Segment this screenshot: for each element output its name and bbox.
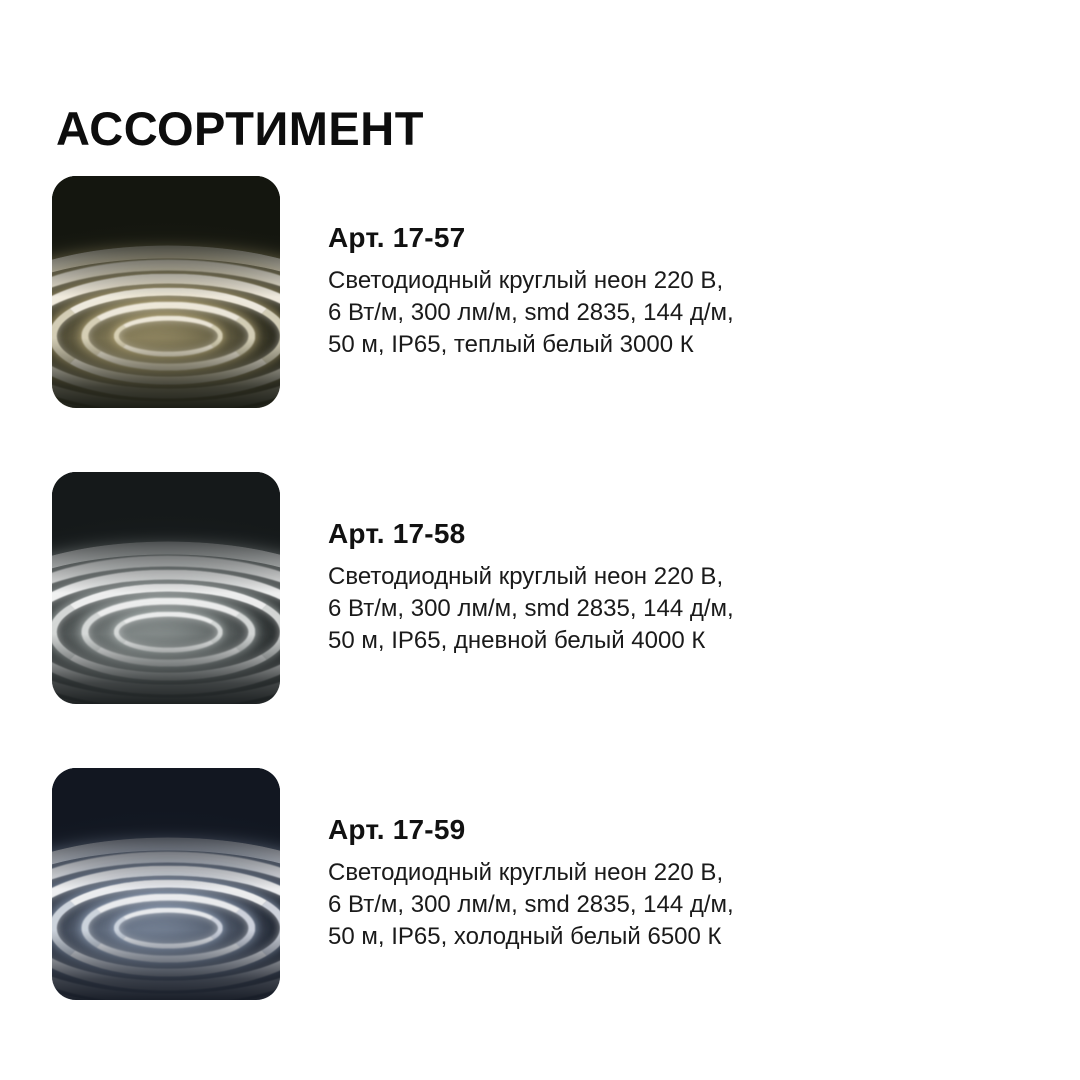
product-article: Арт. 17-57	[328, 223, 968, 254]
product-row: Арт. 17-59Светодиодный круглый неон 220 …	[0, 768, 1080, 1000]
product-image-led-neon-coil-cool-white[interactable]	[52, 768, 280, 1000]
product-description-line: 6 Вт/м, 300 лм/м, smd 2835, 144 д/м,	[328, 593, 968, 625]
product-row: Арт. 17-58Светодиодный круглый неон 220 …	[0, 472, 1080, 704]
neon-coil-illustration	[52, 176, 280, 408]
product-info: Арт. 17-59Светодиодный круглый неон 220 …	[328, 768, 968, 1000]
top-shade	[52, 472, 280, 593]
neon-coil-illustration	[52, 768, 280, 1000]
bottom-shade	[52, 930, 280, 1000]
product-description-line: 6 Вт/м, 300 лм/м, smd 2835, 144 д/м,	[328, 297, 968, 329]
product-image-led-neon-coil-neutral-white[interactable]	[52, 472, 280, 704]
product-image-led-neon-coil-warm-white[interactable]	[52, 176, 280, 408]
product-row: Арт. 17-57Светодиодный круглый неон 220 …	[0, 176, 1080, 408]
product-description-line: 50 м, IP65, теплый белый 3000 К	[328, 329, 968, 361]
product-list: Арт. 17-57Светодиодный круглый неон 220 …	[0, 176, 1080, 1064]
product-description-line: 50 м, IP65, дневной белый 4000 К	[328, 625, 968, 657]
product-description: Светодиодный круглый неон 220 В,6 Вт/м, …	[328, 857, 968, 953]
catalog-page: АССОРТИМЕНТ Арт. 17-57Светодиодный кругл…	[0, 0, 1080, 1080]
neon-coil-illustration	[52, 472, 280, 704]
top-shade	[52, 176, 280, 297]
bottom-shade	[52, 338, 280, 408]
product-description-line: Светодиодный круглый неон 220 В,	[328, 857, 968, 889]
product-info: Арт. 17-57Светодиодный круглый неон 220 …	[328, 176, 968, 408]
bottom-shade	[52, 634, 280, 704]
product-article: Арт. 17-58	[328, 519, 968, 550]
product-description-line: 6 Вт/м, 300 лм/м, smd 2835, 144 д/м,	[328, 889, 968, 921]
product-description-line: Светодиодный круглый неон 220 В,	[328, 561, 968, 593]
product-description-line: 50 м, IP65, холодный белый 6500 К	[328, 921, 968, 953]
product-info: Арт. 17-58Светодиодный круглый неон 220 …	[328, 472, 968, 704]
product-description: Светодиодный круглый неон 220 В,6 Вт/м, …	[328, 265, 968, 361]
product-description-line: Светодиодный круглый неон 220 В,	[328, 265, 968, 297]
product-description: Светодиодный круглый неон 220 В,6 Вт/м, …	[328, 561, 968, 657]
top-shade	[52, 768, 280, 889]
page-title: АССОРТИМЕНТ	[56, 105, 424, 152]
product-article: Арт. 17-59	[328, 815, 968, 846]
